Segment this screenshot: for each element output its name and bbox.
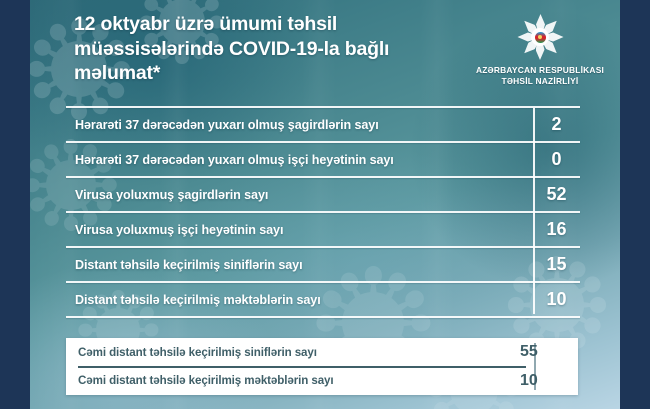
table-row-label: Distant təhsilə keçirilmiş siniflərin sa… (66, 258, 533, 272)
ministry-logo-line1: AZƏRBAYCAN RESPUBLİKASI (476, 65, 604, 76)
summary-row-value: 10 (510, 372, 578, 390)
table-rule (66, 316, 580, 318)
summary-row-label: Cəmi distant təhsilə keçirilmiş məktəblə… (66, 374, 510, 387)
right-frame-bar (620, 0, 650, 409)
ministry-logo-text: AZƏRBAYCAN RESPUBLİKASI TƏHSİL NAZİRLİYİ (476, 65, 604, 88)
azerbaijan-ministry-emblem-icon (517, 14, 563, 60)
summary-box: Cəmi distant təhsilə keçirilmiş siniflər… (66, 338, 578, 395)
table-row-label: Virusa yoluxmuş işçi heyətinin sayı (66, 223, 533, 237)
table-row-value: 0 (533, 149, 580, 170)
left-frame-bar (0, 0, 30, 409)
summary-row: Cəmi distant təhsilə keçirilmiş məktəblə… (66, 367, 578, 396)
emblem-seal (535, 32, 546, 43)
table-row: Hərarəti 37 dərəcədən yuxarı olmuş işçi … (66, 143, 580, 176)
table-row-value: 10 (533, 289, 580, 310)
table-row-value: 2 (533, 114, 580, 135)
statistics-table: Hərarəti 37 dərəcədən yuxarı olmuş şagir… (66, 106, 580, 318)
table-row-value: 52 (533, 184, 580, 205)
ministry-logo-line2: TƏHSİL NAZİRLİYİ (476, 76, 604, 87)
table-row-value: 16 (533, 219, 580, 240)
table-row: Virusa yoluxmuş işçi heyətinin sayı 16 (66, 213, 580, 246)
ministry-logo: AZƏRBAYCAN RESPUBLİKASI TƏHSİL NAZİRLİYİ (466, 14, 614, 88)
summary-row: Cəmi distant təhsilə keçirilmiş siniflər… (66, 338, 578, 367)
covid-education-infographic: 12 oktyabr üzrə ümumi təhsil müəssisələr… (0, 0, 650, 409)
table-row: Distant təhsilə keçirilmiş siniflərin sa… (66, 248, 580, 281)
table-row-value: 15 (533, 254, 580, 275)
header: 12 oktyabr üzrə ümumi təhsil müəssisələr… (74, 12, 614, 88)
page-title: 12 oktyabr üzrə ümumi təhsil müəssisələr… (74, 12, 464, 86)
summary-row-value: 55 (510, 343, 578, 361)
table-row: Hərarəti 37 dərəcədən yuxarı olmuş şagir… (66, 108, 580, 141)
table-row-label: Hərarəti 37 dərəcədən yuxarı olmuş işçi … (66, 153, 533, 167)
table-row-label: Hərarəti 37 dərəcədən yuxarı olmuş şagir… (66, 118, 533, 132)
table-row: Distant təhsilə keçirilmiş məktəblərin s… (66, 283, 580, 316)
table-row: Virusa yoluxmuş şagirdlərin sayı 52 (66, 178, 580, 211)
table-row-label: Virusa yoluxmuş şagirdlərin sayı (66, 188, 533, 202)
table-row-label: Distant təhsilə keçirilmiş məktəblərin s… (66, 293, 533, 307)
summary-row-label: Cəmi distant təhsilə keçirilmiş siniflər… (66, 346, 510, 359)
